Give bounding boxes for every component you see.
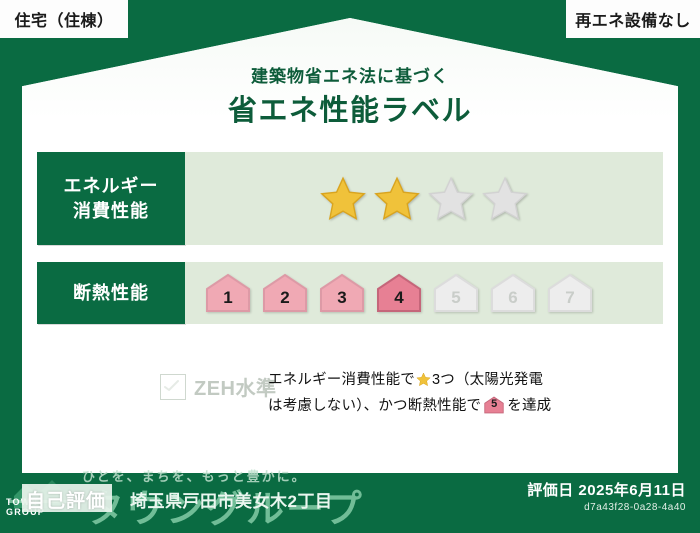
star-rating-panel — [185, 152, 663, 245]
insulation-level-value: 7 — [565, 289, 574, 313]
checkbox-icon — [160, 374, 186, 400]
house-chip-icon: 5 — [483, 396, 505, 422]
energy-performance-label-head: エネルギー 消費性能 — [37, 152, 185, 245]
zeh-standard-indicator: ZEH水準 — [160, 372, 277, 401]
label-subtitle: 建築物省エネ法に基づく — [0, 62, 700, 87]
star-icon — [372, 175, 422, 223]
insulation-level-chip-4: 4 — [374, 273, 424, 313]
star-icon — [416, 372, 431, 395]
insulation-level-chip-6: 6 — [488, 273, 538, 313]
zeh-desc-part4: を達成 — [507, 398, 551, 414]
star-icon — [318, 175, 368, 223]
insulation-level-panel: 1234567 — [185, 262, 663, 324]
renewable-equipment-tag: 再エネ設備なし — [566, 0, 700, 38]
building-type-tag: 住宅（住棟） — [0, 0, 128, 38]
evaluation-info: 評価日 2025年6月11日 d7a43f28-0a28-4a40 — [527, 479, 686, 513]
zeh-description: エネルギー消費性能で3つ（太陽光発電 は考慮しない）、かつ断熱性能で5を達成 — [268, 369, 578, 423]
energy-label-line1: エネルギー — [64, 174, 159, 198]
insulation-level-chip-3: 3 — [317, 273, 367, 313]
insulation-performance-label-head: 断熱性能 — [37, 262, 185, 324]
star-icon — [480, 175, 530, 223]
zeh-desc-part3: は考慮しない）、かつ断熱性能で — [268, 398, 481, 414]
insulation-level-chip-5: 5 — [431, 273, 481, 313]
insulation-level-value: 6 — [508, 289, 517, 313]
label-main-title: 省エネ性能ラベル — [0, 87, 700, 129]
zeh-label: ZEH水準 — [194, 372, 277, 401]
self-evaluation-text: 自己評価 — [26, 486, 106, 513]
insulation-level-value: 2 — [280, 289, 289, 313]
insulation-level-chip-7: 7 — [545, 273, 595, 313]
energy-performance-row: エネルギー 消費性能 — [37, 152, 663, 245]
insulation-level-value: 3 — [337, 289, 346, 313]
property-address-text: 埼玉県戸田市美女木2丁目 — [130, 487, 332, 512]
insulation-level-chip-1: 1 — [203, 273, 253, 313]
energy-performance-label: 住宅（住棟） 再エネ設備なし 建築物省エネ法に基づく 省エネ性能ラベル エネルギ… — [0, 0, 700, 525]
star-icon — [426, 175, 476, 223]
insulation-level-value: 1 — [223, 289, 232, 313]
evaluation-date: 評価日 2025年6月11日 — [527, 479, 686, 500]
insulation-performance-row: 断熱性能 1234567 — [37, 262, 663, 324]
insulation-level-chip-2: 2 — [260, 273, 310, 313]
insulation-level-value: 4 — [394, 289, 403, 313]
evaluation-hash-id: d7a43f28-0a28-4a40 — [527, 502, 686, 513]
insulation-label: 断熱性能 — [73, 281, 149, 305]
insulation-level-value: 5 — [451, 289, 460, 313]
zeh-desc-part1: エネルギー消費性能で — [268, 372, 415, 388]
zeh-desc-chip-value: 5 — [483, 396, 505, 414]
energy-label-line2: 消費性能 — [73, 199, 149, 223]
zeh-desc-part2: 3つ（太陽光発電 — [432, 372, 543, 388]
